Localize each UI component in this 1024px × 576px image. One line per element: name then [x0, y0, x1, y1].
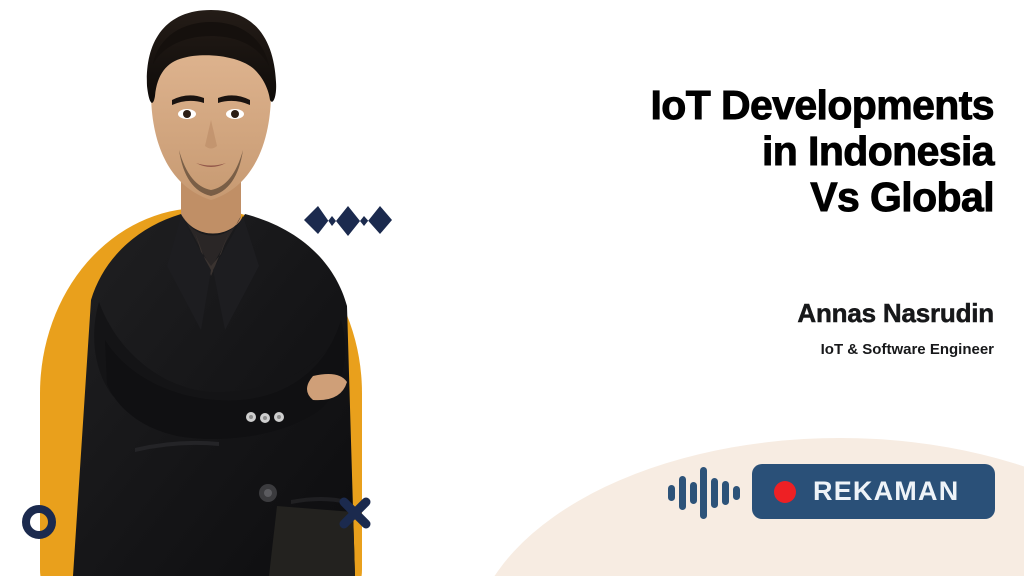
x-decor-icon — [337, 495, 373, 536]
waveform-bar — [700, 467, 707, 519]
waveform-bar — [679, 476, 686, 510]
slide-title: IoT Developments in Indonesia Vs Global — [434, 82, 994, 220]
speaker-role: IoT & Software Engineer — [434, 341, 994, 359]
title-line-3: Vs Global — [434, 174, 994, 220]
rekaman-badge: REKAMAN — [752, 464, 995, 519]
waveform-bar — [690, 482, 697, 504]
ring-decor-icon — [22, 505, 56, 544]
title-line-2: in Indonesia — [434, 128, 994, 174]
waveform-bar — [668, 485, 675, 501]
zigzag-decor-icon — [302, 204, 394, 259]
record-dot-icon — [774, 481, 796, 503]
title-line-1: IoT Developments — [434, 82, 994, 128]
presenter-photo — [55, 0, 405, 576]
presentation-slide: IoT Developments in Indonesia Vs Global … — [0, 0, 1024, 576]
waveform-bar — [722, 481, 729, 505]
rekaman-label: REKAMAN — [813, 476, 959, 507]
waveform-icon — [668, 465, 740, 521]
waveform-bar — [711, 478, 718, 508]
waveform-bar — [733, 486, 740, 500]
speaker-name: Annas Nasrudin — [434, 298, 994, 328]
